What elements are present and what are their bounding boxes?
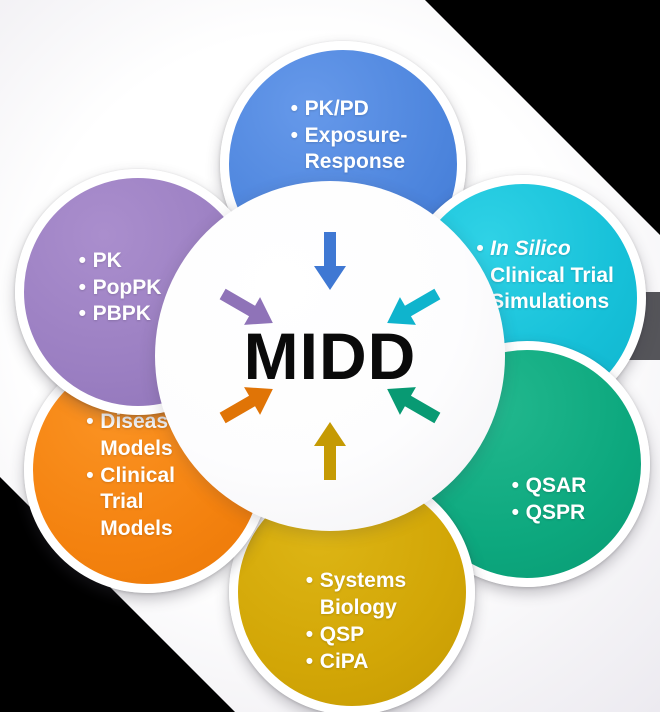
petal-item: QSP — [306, 622, 406, 649]
arrow-down-icon — [314, 420, 346, 480]
petal-item: Clinical Trial Models — [86, 463, 179, 544]
petal-pk-pd-list: PK/PD Exposure- Response — [291, 96, 408, 177]
petal-item: Systems Biology — [306, 568, 406, 622]
petal-item: PBPK — [79, 301, 162, 328]
petal-item: CiPA — [306, 649, 406, 676]
petal-disease-models-list: Disease Models Clinical Trial Models — [86, 409, 179, 543]
midd-diagram-canvas: PK/PD Exposure- Response In Silico Clini… — [0, 0, 660, 712]
petal-item: PopPK — [79, 275, 162, 302]
petal-systems-biology-list: Systems Biology QSP CiPA — [306, 568, 406, 676]
petal-item: PK — [79, 248, 162, 275]
petal-item: QSPR — [512, 500, 587, 527]
arrow-down-icon — [314, 232, 346, 292]
petal-pk-poppk-pbpk-list: PK PopPK PBPK — [79, 248, 162, 329]
petal-item: QSAR — [512, 473, 587, 500]
petal-item: PK/PD — [291, 96, 408, 123]
petal-qsar-qspr-list: QSAR QSPR — [512, 473, 587, 527]
petal-item: Exposure- Response — [291, 123, 408, 177]
petal-item: In Silico — [476, 236, 614, 263]
